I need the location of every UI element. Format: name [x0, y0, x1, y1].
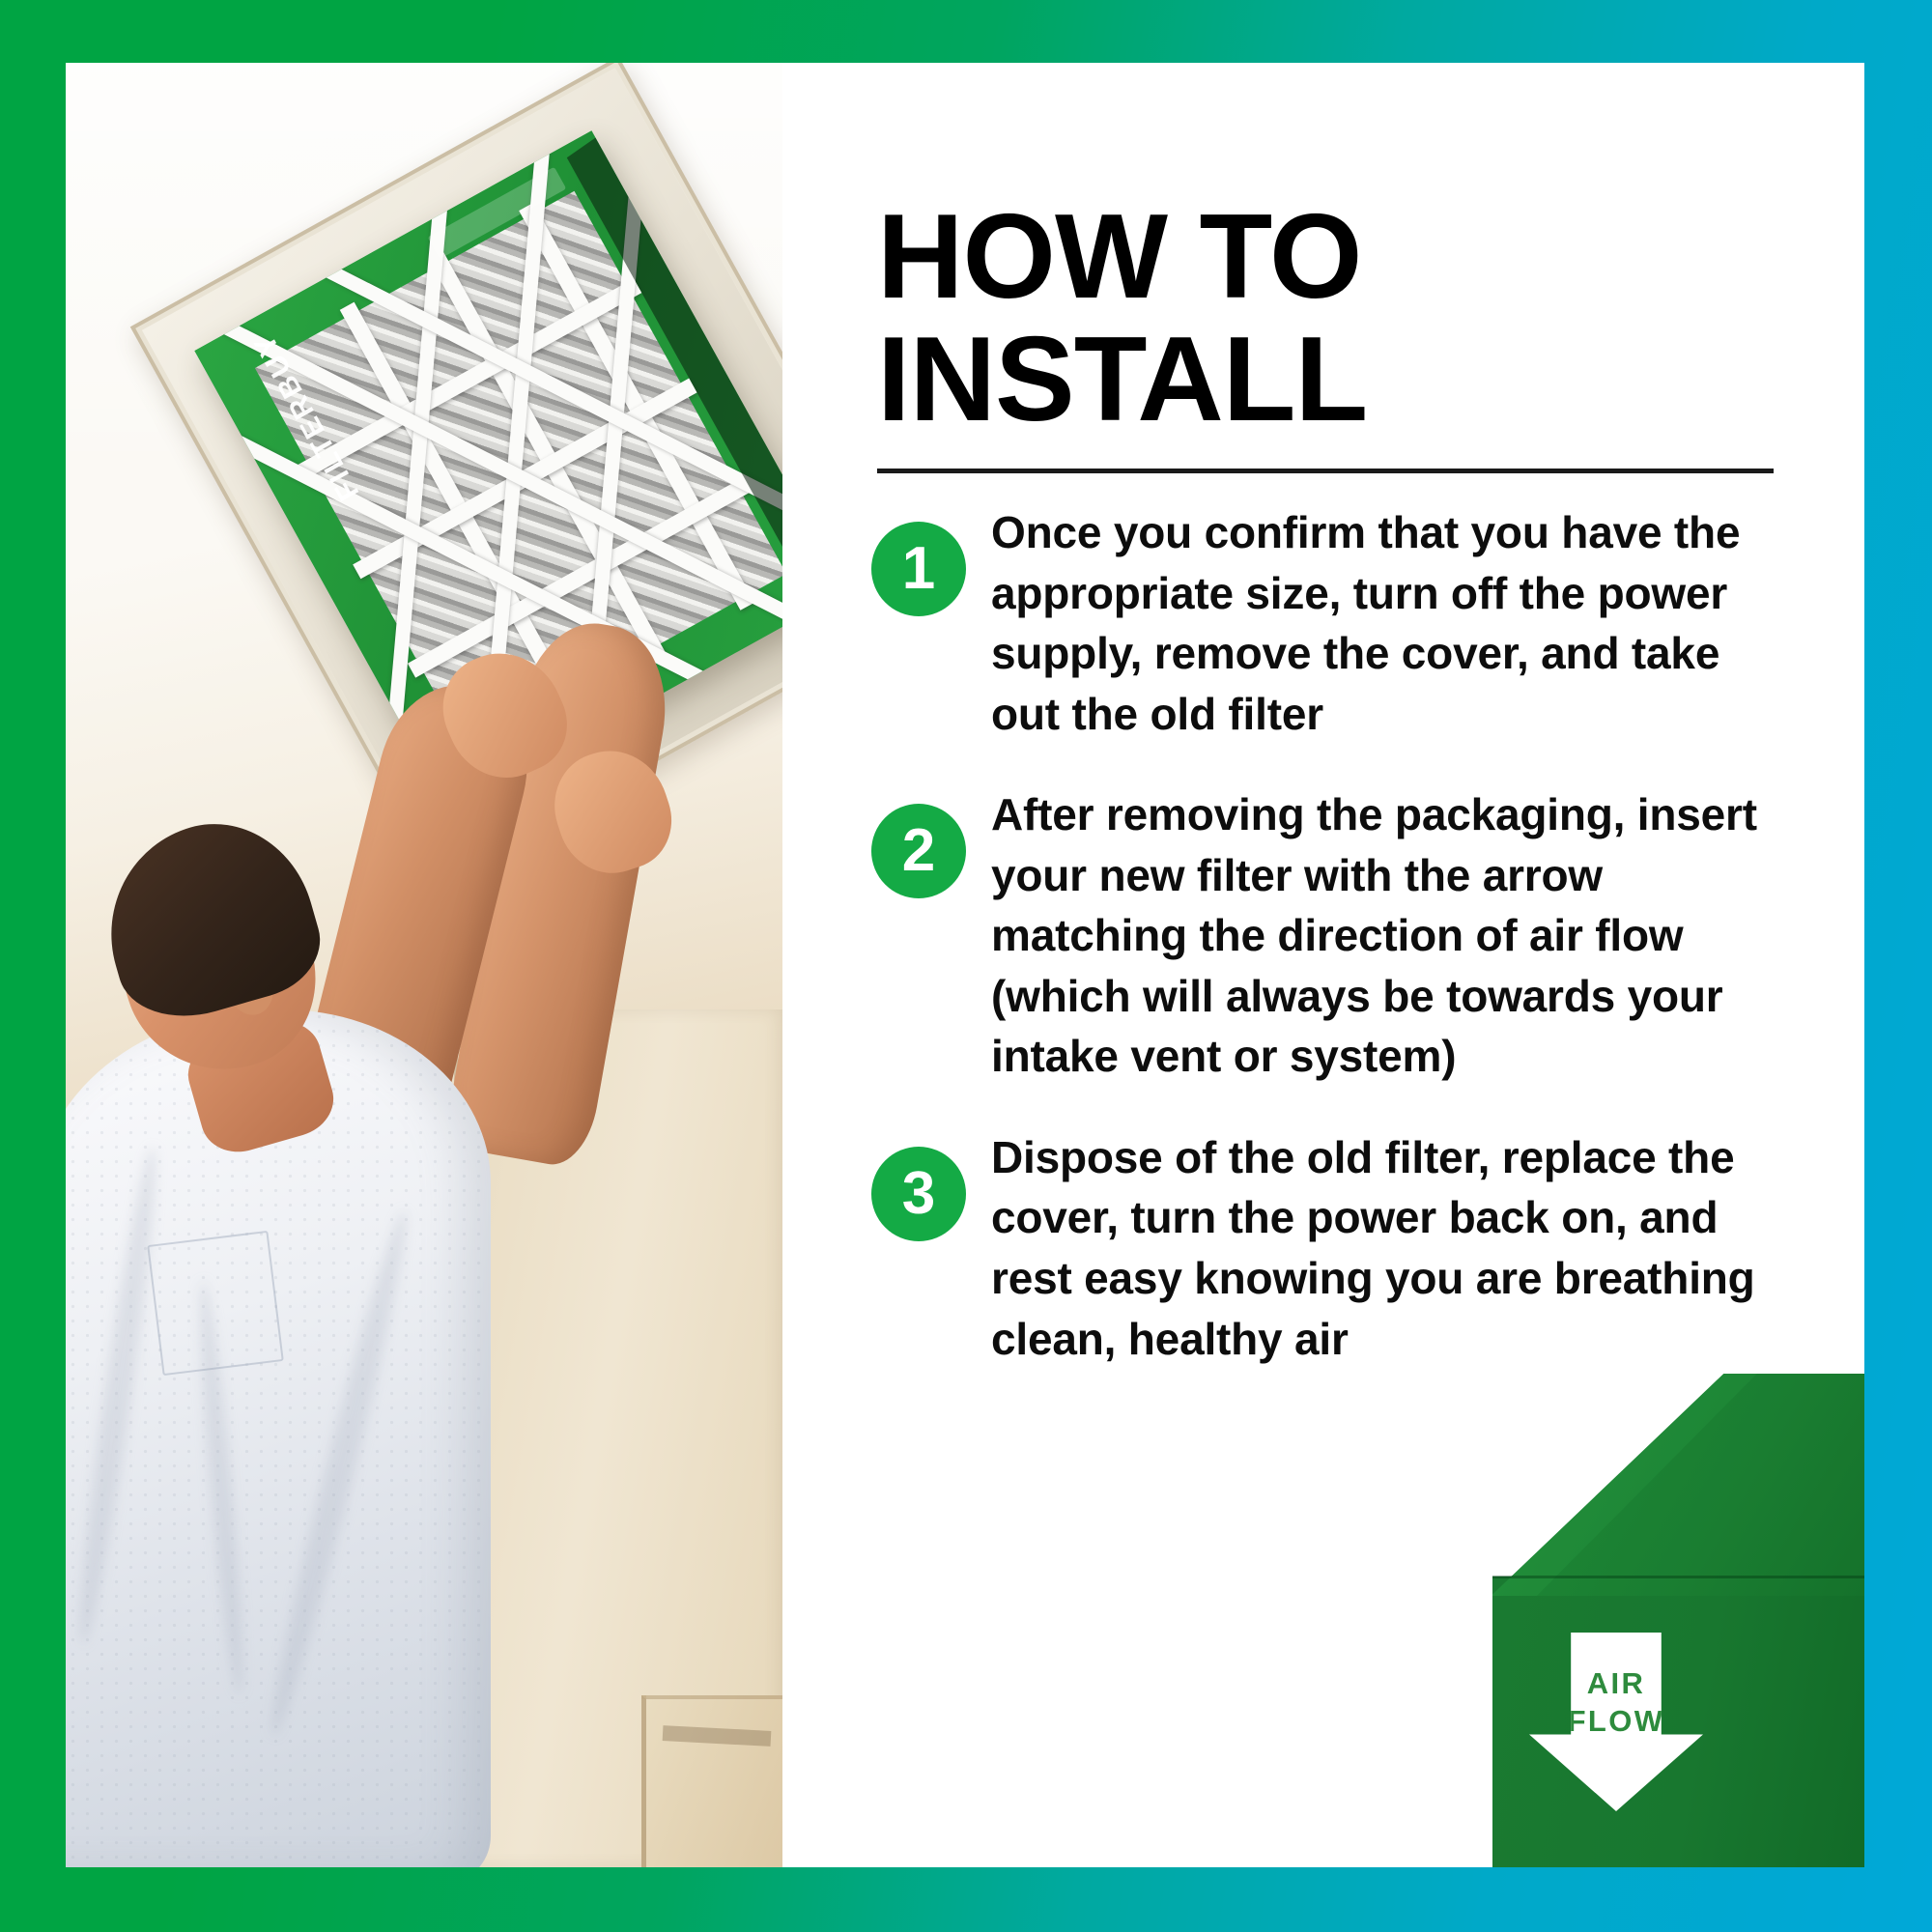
- infographic-page: FILTERBUY HOW TO INSTALL 1 Once you conf…: [0, 0, 1932, 1932]
- step-number-badge: 3: [871, 1147, 966, 1241]
- step-number-badge: 2: [871, 804, 966, 898]
- step-number-badge: 1: [871, 522, 966, 616]
- product-edge-seam: [1492, 1576, 1864, 1578]
- step-text: After removing the packaging, insert you…: [991, 784, 1776, 1087]
- page-title-line-2: INSTALL: [877, 319, 1824, 440]
- page-title: HOW TO INSTALL: [877, 196, 1824, 440]
- step-item: 3 Dispose of the old filter, replace the…: [782, 1127, 1864, 1369]
- steps-list: 1 Once you confirm that you have the app…: [782, 502, 1864, 1409]
- air-flow-label-line-2: FLOW: [1568, 1703, 1665, 1741]
- product-front-face: [1492, 1577, 1864, 1867]
- product-brand-text: FILTERBUY: [1542, 1352, 1627, 1476]
- step-text: Once you confirm that you have the appro…: [991, 502, 1776, 744]
- installation-photo: FILTERBUY: [66, 63, 782, 1867]
- step-text: Dispose of the old filter, replace the c…: [991, 1127, 1776, 1369]
- door-frame: [641, 1695, 782, 1867]
- page-title-line-1: HOW TO: [877, 190, 1361, 324]
- title-divider: [877, 469, 1774, 473]
- shirt-pocket: [147, 1231, 284, 1376]
- product-filter-graphic: FILTERBUY AIR FLOW: [1492, 1352, 1864, 1867]
- step-item: 2 After removing the packaging, insert y…: [782, 784, 1864, 1087]
- step-item: 1 Once you confirm that you have the app…: [782, 502, 1864, 744]
- air-flow-label-line-1: AIR: [1587, 1665, 1646, 1703]
